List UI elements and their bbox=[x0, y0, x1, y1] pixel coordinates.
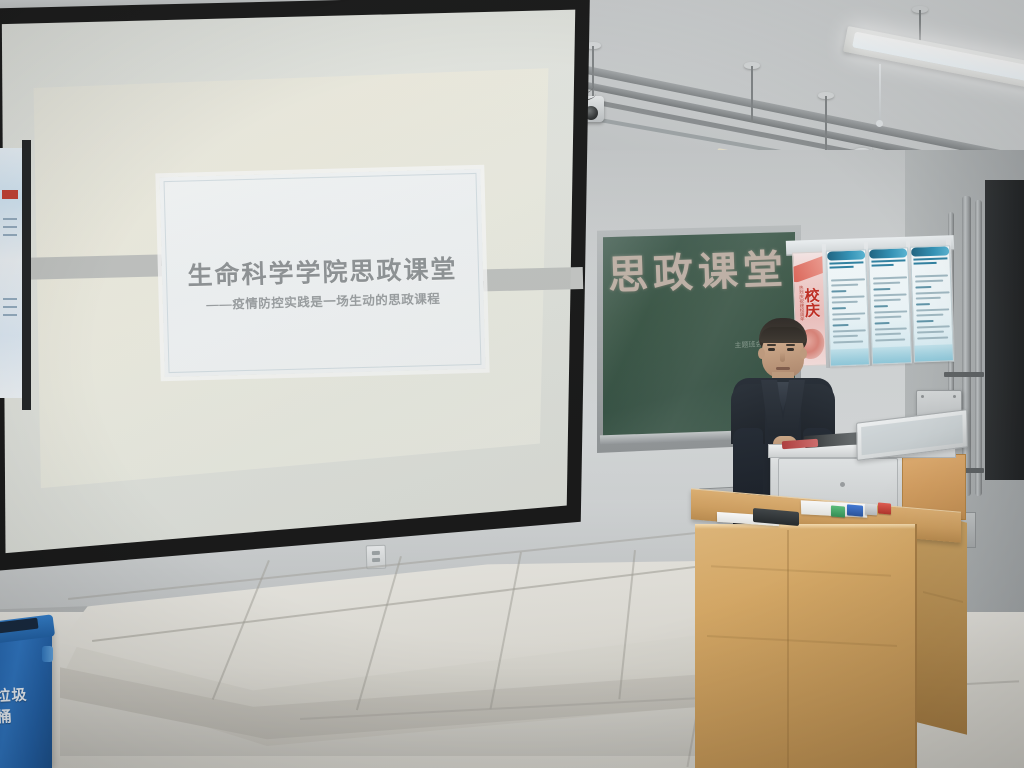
lamp-pull-chain[interactable] bbox=[879, 64, 881, 122]
pipe-bracket bbox=[944, 372, 984, 377]
bin-handle[interactable] bbox=[42, 646, 53, 662]
presenter-hair-front bbox=[760, 327, 806, 343]
blackboard-chalk-text: 思政课堂 bbox=[599, 240, 797, 307]
lectern-top-edge bbox=[695, 524, 915, 529]
lamp-pull-chain-weight[interactable] bbox=[876, 120, 883, 127]
presenter-ear-right bbox=[800, 348, 807, 359]
bulletin-panel-2 bbox=[868, 247, 912, 364]
recycling-bin[interactable]: 垃圾桶 bbox=[0, 612, 56, 768]
lamp-rod bbox=[825, 96, 827, 158]
lamp-rod bbox=[751, 66, 753, 122]
wooden-lectern bbox=[691, 500, 967, 768]
presenter-mouth bbox=[776, 367, 790, 370]
classroom-scene: 生命科学学院思政课堂 ——疫情防控实践是一场生动的思政课程 思政课堂 主题班会 … bbox=[0, 0, 1024, 768]
presenter-nose bbox=[780, 352, 785, 362]
console-door-knob[interactable] bbox=[840, 482, 845, 487]
doorway-opening bbox=[985, 180, 1024, 480]
lectern-box-white bbox=[865, 503, 877, 515]
presenter-brow-right bbox=[786, 344, 795, 346]
slide-title: 生命科学学院思政课堂 bbox=[162, 249, 484, 293]
screen-left-edge bbox=[22, 140, 31, 410]
lectern-box-red bbox=[878, 502, 891, 514]
projection-screen: 生命科学学院思政课堂 ——疫情防控实践是一场生动的思政课程 bbox=[0, 0, 596, 574]
left-wall-poster bbox=[0, 148, 22, 398]
poster-headline: 校庆 bbox=[804, 288, 825, 319]
lectern-box-blue bbox=[847, 504, 863, 516]
slide-panel: 生命科学学院思政课堂 ——疫情防控实践是一场生动的思政课程 bbox=[159, 169, 485, 377]
presenter-eye-left bbox=[768, 348, 775, 351]
lectern-side-panel bbox=[913, 509, 967, 734]
wall-pipe bbox=[975, 200, 982, 496]
presenter-brow-left bbox=[767, 344, 776, 346]
presenter-eye-right bbox=[787, 348, 794, 351]
bin-label: 垃圾桶 bbox=[0, 683, 41, 727]
presenter-ear-left bbox=[758, 348, 765, 359]
lectern-box-green bbox=[831, 505, 845, 517]
lectern-panel-seam bbox=[787, 530, 789, 768]
bulletin-panel-3 bbox=[910, 245, 954, 362]
